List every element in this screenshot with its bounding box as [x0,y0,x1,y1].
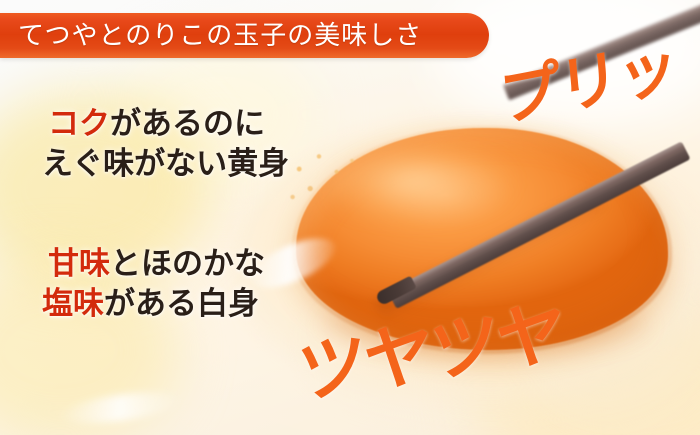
egg-white-bubbles [286,148,396,218]
copy-accent-amami: 甘味 [48,246,110,281]
copy-block-yolk: コクがあるのに えぐ味がない黄身 [48,108,289,179]
copy-line-2: えぐ味がない黄身 [42,148,289,179]
copy-plain-ga-aru-noni: があるのに [110,106,265,141]
copy-line-3: 甘味とほのかな [48,248,265,279]
copy-plain-egumi-ga-nai-kimi: えぐ味がない黄身 [42,146,289,181]
header-banner-title: てつやとのりこの玉子の美味しさ [0,23,422,49]
copy-accent-shiomi: 塩味 [42,286,104,321]
copy-plain-to-honokana: とほのかな [110,246,265,281]
promo-banner-image: てつやとのりこの玉子の美味しさ コクがあるのに えぐ味がない黄身 甘味とほのかな… [0,0,700,435]
copy-line-4: 塩味がある白身 [42,288,265,319]
copy-plain-ga-aru-shiromi: がある白身 [104,286,259,321]
header-banner: てつやとのりこの玉子の美味しさ [0,13,489,58]
copy-accent-koku: コク [48,106,110,141]
copy-block-white: 甘味とほのかな 塩味がある白身 [48,248,265,319]
copy-line-1: コクがあるのに [48,108,289,139]
